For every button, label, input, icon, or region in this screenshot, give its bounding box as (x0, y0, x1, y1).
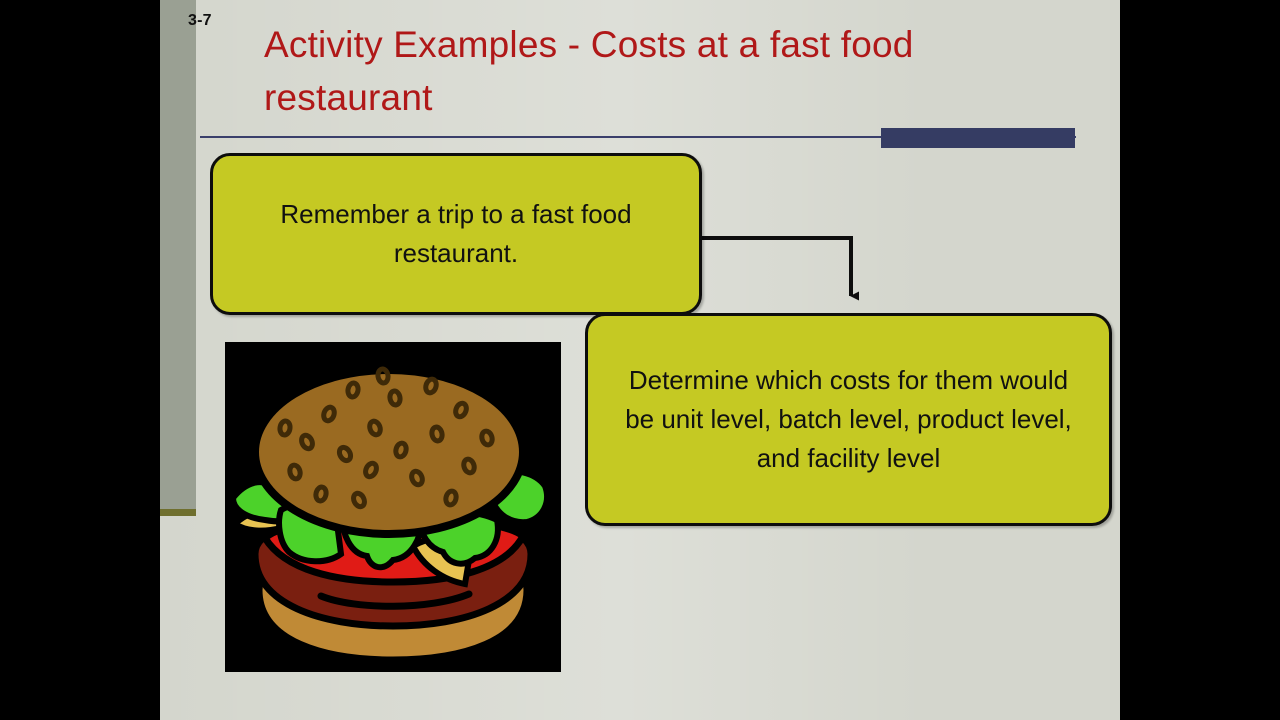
hamburger-illustration (225, 342, 561, 672)
page-title: Activity Examples - Costs at a fast food… (264, 18, 1064, 124)
hamburger-image (225, 342, 561, 672)
left-band-accent (160, 509, 196, 516)
callout-remember-trip-text: Remember a trip to a fast food restauran… (213, 195, 699, 273)
screenshot-stage: 3-7 Activity Examples - Costs at a fast … (0, 0, 1280, 720)
callout-remember-trip[interactable]: Remember a trip to a fast food restauran… (210, 153, 702, 315)
callout-determine-costs[interactable]: Determine which costs for them would be … (585, 313, 1112, 526)
title-accent-block (881, 128, 1075, 148)
slide-number: 3-7 (188, 12, 212, 30)
callout-determine-costs-text: Determine which costs for them would be … (588, 361, 1109, 478)
left-decorative-band (160, 0, 196, 512)
presentation-slide: 3-7 Activity Examples - Costs at a fast … (160, 0, 1120, 720)
